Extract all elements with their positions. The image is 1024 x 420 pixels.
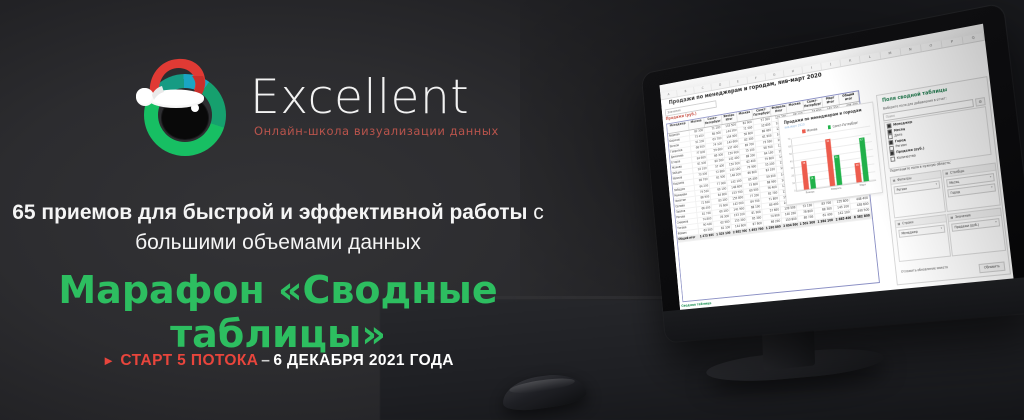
pivot-zone-label: Строки: [902, 220, 914, 225]
checkbox-icon[interactable]: [890, 156, 895, 162]
chart-y-tick: 60: [788, 145, 791, 148]
cta-date-text: 6 ДЕКАБРЯ 2021 ГОДА: [273, 352, 454, 369]
values-icon: ▤: [950, 215, 953, 219]
chart-y-tick: 50: [789, 153, 792, 156]
chart-bar-value: 40: [833, 155, 839, 159]
pivot-zone-1[interactable]: ▤СтолбцыМесяцГород: [942, 162, 1001, 212]
pivot-zone-2[interactable]: ▤СтрокиМенеджер: [894, 214, 951, 262]
legend-swatch: [802, 129, 805, 133]
chart-x-category: Февраль: [831, 186, 842, 191]
chart-y-tick: 70: [787, 138, 790, 141]
headline-line-1: 65 приемов для быстрой и эффективной раб…: [0, 198, 556, 228]
page-title: Марафон «Сводные таблицы»: [0, 268, 556, 356]
cta-dash: –: [261, 352, 270, 369]
pivot-value-cell[interactable]: 1 473 800: [699, 233, 715, 240]
pivot-fields-panel[interactable]: Поля сводной таблицы Выберите поля для д…: [876, 76, 1011, 285]
logo-tagline: Онлайн-школа визуализации данных: [254, 124, 499, 138]
pivot-zone-label: Столбцы: [950, 169, 965, 175]
chart-bar[interactable]: 16: [809, 176, 815, 189]
headline-strong: 65 приемов для быстрой и эффективной раб…: [12, 201, 527, 224]
monitor-screen[interactable]: ABCDEFGHIJKLMNOPQ Продажи по менеджерам …: [660, 24, 1014, 310]
chart-bar[interactable]: 38: [801, 161, 809, 190]
gear-icon[interactable]: ⚙: [975, 97, 986, 107]
pivot-zone-label: Значения: [955, 213, 971, 219]
brand-logo[interactable]: Excellent Онлайн-школа визуализации данн…: [132, 56, 499, 156]
pivot-zone-3[interactable]: ▤ЗначенияПродажи (руб.): [947, 207, 1006, 256]
left-content: Excellent Онлайн-школа визуализации данн…: [0, 0, 580, 420]
pivot-value-cell[interactable]: 2 694 500: [782, 223, 799, 231]
pivot-zone-0[interactable]: ▤ФильтрыРегион: [890, 170, 946, 218]
chart-bar-value: 57: [859, 139, 865, 143]
monitor-body: ABCDEFGHIJKLMNOPQ Продажи по менеджерам …: [642, 3, 1024, 342]
chart-bar-value: 26: [854, 163, 860, 167]
filter-icon: ▤: [893, 178, 896, 182]
chart-y-tick: 20: [791, 175, 794, 178]
pivot-defer-label: Отложить обновление макета: [901, 265, 948, 274]
chart-legend-item: Москва: [802, 127, 818, 133]
pivot-value-cell[interactable]: 1 403 700: [748, 227, 765, 235]
headline-tail: с: [527, 201, 543, 224]
pivot-value-cell[interactable]: 8 382 800: [852, 214, 872, 222]
pivot-value-cell[interactable]: 1 501 300: [799, 221, 816, 229]
play-arrow-icon: ►: [102, 353, 115, 368]
chart-y-tick: 10: [792, 182, 795, 185]
pivot-value-cell[interactable]: 2 885 400: [835, 216, 853, 224]
chart-bar-value: 16: [809, 177, 814, 181]
pivot-row-label: Общий итог: [677, 235, 699, 243]
pivot-chart[interactable]: Продажи по менеджерам и городам янв-март…: [778, 101, 884, 205]
legend-label: Москва: [807, 127, 818, 132]
chart-y-tick: 30: [790, 167, 793, 170]
chart-bar-value: 62: [825, 140, 831, 144]
logo-wordmark: Excellent: [250, 74, 499, 121]
logo-mark: [132, 56, 236, 156]
chart-x-category: Январь: [806, 189, 815, 194]
cta-red-text: СТАРТ 5 ПОТОКА: [120, 352, 258, 369]
chart-y-tick: 40: [790, 160, 793, 163]
chart-bar-value: 38: [801, 162, 806, 166]
pivot-value-cell[interactable]: 1 384 100: [815, 218, 835, 226]
cta-start-date[interactable]: ►СТАРТ 5 ПОТОКА–6 ДЕКАБРЯ 2021 ГОДА: [0, 352, 556, 370]
columns-icon: ▤: [945, 171, 948, 175]
chart-x-category: Март: [859, 182, 866, 187]
pivot-value-cell[interactable]: 1 329 100: [714, 231, 732, 239]
rows-icon: ▤: [897, 222, 900, 226]
chart-plot-area: 0102030405060703816Январь6240Февраль2657…: [791, 127, 876, 192]
headline-block: 65 приемов для быстрой и эффективной раб…: [0, 198, 556, 258]
pivot-zone-label: Фильтры: [897, 176, 911, 182]
santa-hat-icon: [134, 54, 212, 116]
chart-y-tick: 0: [794, 190, 796, 193]
promo-banner: Excellent Онлайн-школа визуализации данн…: [0, 0, 1024, 420]
desktop-monitor: ABCDEFGHIJKLMNOPQ Продажи по менеджерам …: [598, 8, 1024, 408]
pivot-update-button[interactable]: Обновить: [979, 261, 1006, 273]
logo-text-group: Excellent Онлайн-школа визуализации данн…: [250, 74, 499, 138]
legend-swatch: [828, 125, 831, 129]
pivot-field-label: Количество: [897, 153, 916, 161]
pivot-value-cell[interactable]: 2 802 900: [732, 229, 748, 237]
pivot-value-cell[interactable]: 1 290 800: [764, 225, 783, 233]
headline-line-2: большими объемами данных: [0, 228, 556, 258]
